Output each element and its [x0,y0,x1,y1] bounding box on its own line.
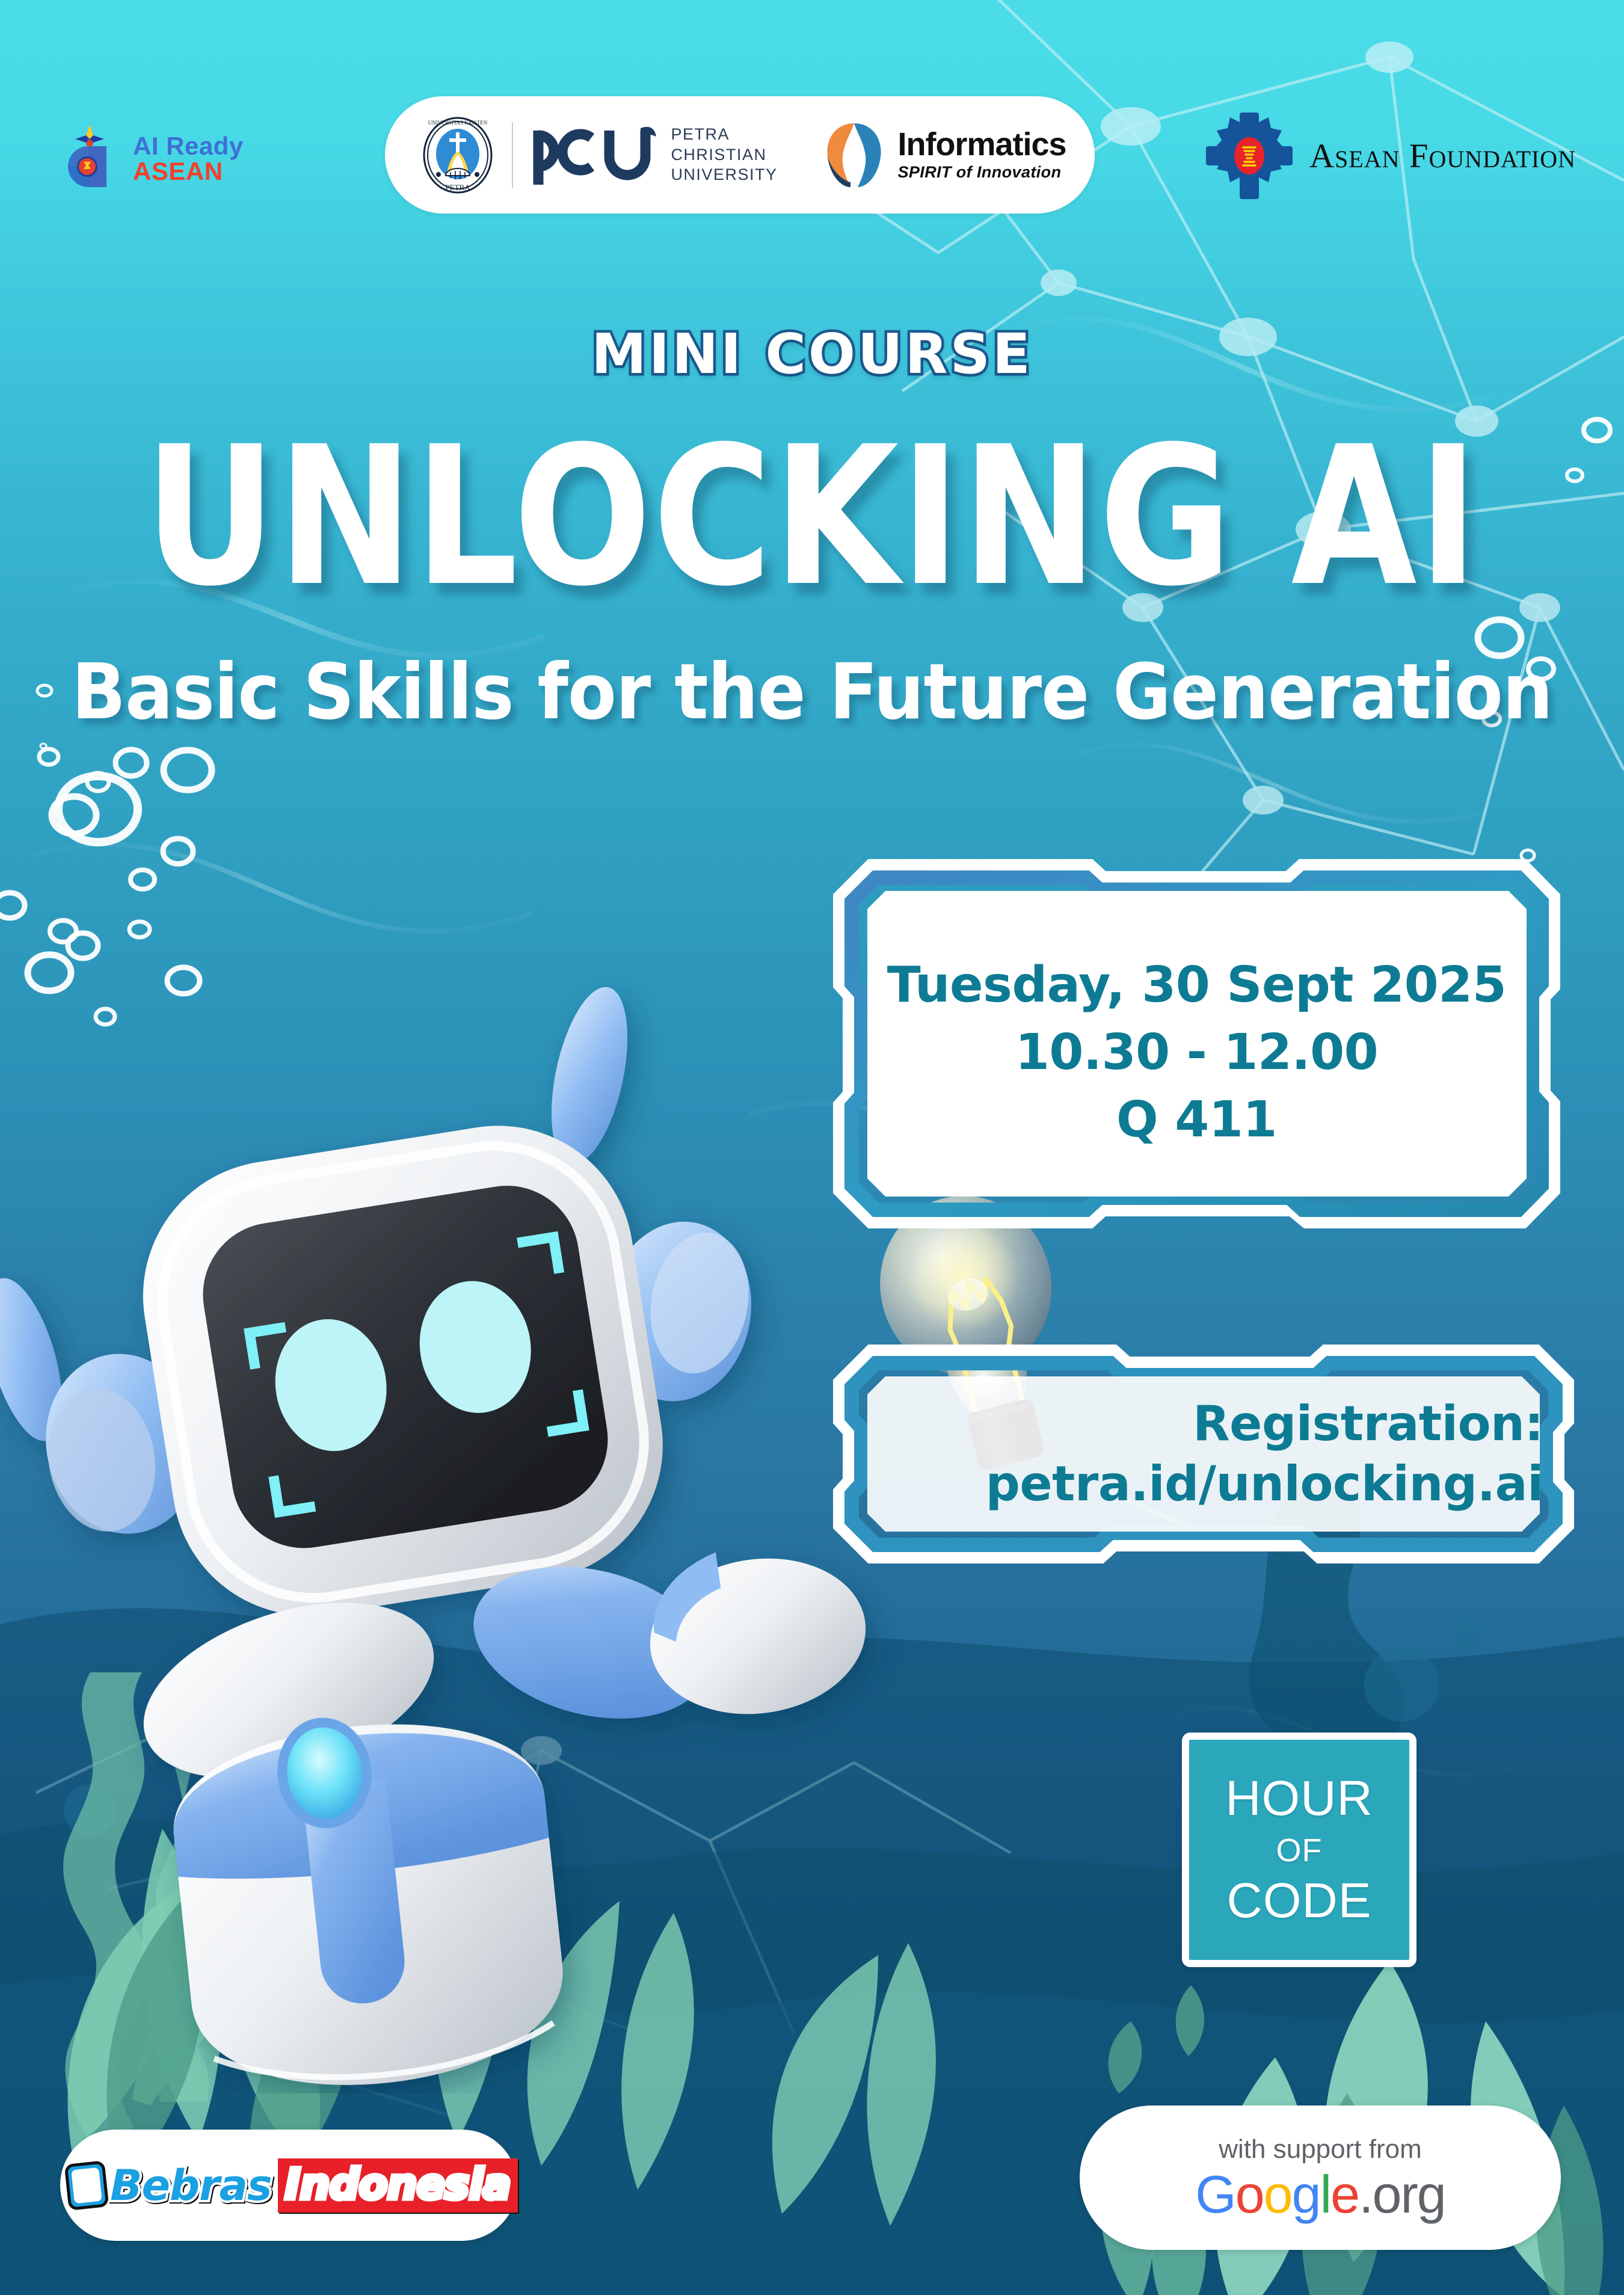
informatics-name: Informatics [897,128,1066,161]
registration-box[interactable]: Registration: petra.id/unlocking.ai [831,1343,1576,1565]
svg-text:PETRA: PETRA [446,183,471,192]
page-title: UNLOCKING AI [0,421,1624,613]
bebras-word: Bebras [110,2161,271,2210]
pcu-name: PETRA CHRISTIAN UNIVERSITY [671,125,777,185]
event-date: Tuesday, 30 Sept 2025 [887,961,1507,1010]
bebras-indonesia-pill: Bebras Indonesia [60,2130,517,2241]
google-letter-l: l [1320,2164,1331,2224]
ai-ready-asean-icon [57,123,122,194]
asean-foundation-label: Asean Foundation [1309,137,1576,176]
kicker-mini-course: MINI COURSE [0,322,1624,386]
hour-of-code-line2: OF [1276,1834,1323,1867]
informatics-tagline: SPIRIT of Innovation [897,163,1066,182]
google-org-logo: Google.org [1195,2168,1445,2221]
pcu-name-line1: PETRA [671,125,777,144]
registration-url[interactable]: petra.id/unlocking.ai [986,1459,1543,1509]
google-letter-o2: o [1264,2164,1292,2224]
event-details-text: Tuesday, 30 Sept 2025 10.30 - 12.00 Q 41… [831,857,1562,1230]
hour-of-code-badge: HOUR OF CODE [1182,1733,1416,1967]
pcu-name-line2: CHRISTIAN [671,145,777,165]
pcu-name-line3: UNIVERSITY [671,165,777,185]
bebras-logo: Bebras Indonesia [60,2158,518,2213]
ai-ready-label: AI Ready [133,134,244,159]
event-time: 10.30 - 12.00 [1015,1028,1378,1077]
hour-of-code-line1: HOUR [1225,1774,1373,1823]
google-letter-g2: g [1292,2164,1320,2224]
bebras-indonesia-tag: Indonesia [278,2158,518,2213]
asean-foundation-logo: Asean Foundation [1205,111,1576,200]
partner-logo-bar: AI Ready ASEAN PETRA [0,90,1624,211]
event-details-box: Tuesday, 30 Sept 2025 10.30 - 12.00 Q 41… [831,857,1562,1230]
petra-university-crest: PETRA UNIVERSITAS KRISTEN [419,117,496,194]
google-org-suffix: .org [1359,2164,1445,2224]
page-subtitle: Basic Skills for the Future Generation [0,647,1624,736]
google-letter-o1: o [1235,2164,1264,2224]
google-letter-g1: G [1195,2164,1235,2224]
google-support-label: with support from [1219,2134,1421,2164]
event-room: Q 411 [1116,1095,1277,1145]
hour-of-code-line3: CODE [1227,1876,1372,1926]
google-support-pill: with support from Google.org [1080,2106,1561,2250]
registration-text: Registration: petra.id/unlocking.ai [831,1343,1576,1565]
svg-text:UNIVERSITAS KRISTEN: UNIVERSITAS KRISTEN [428,120,488,126]
logo-divider [512,122,513,188]
pcu-monogram [529,122,660,188]
ai-ready-asean-logo: AI Ready ASEAN [57,123,244,194]
asean-label: ASEAN [133,159,244,184]
registration-label: Registration: [1193,1399,1543,1449]
poster-canvas: AI Ready ASEAN PETRA [0,0,1624,2295]
informatics-logo-icon [820,120,888,191]
partners-pill: PETRA UNIVERSITAS KRISTEN PETRA CHRIS [385,96,1095,214]
asean-foundation-emblem [1205,111,1294,200]
google-letter-e: e [1330,2164,1359,2224]
bebras-beaver-mark [60,2158,115,2213]
